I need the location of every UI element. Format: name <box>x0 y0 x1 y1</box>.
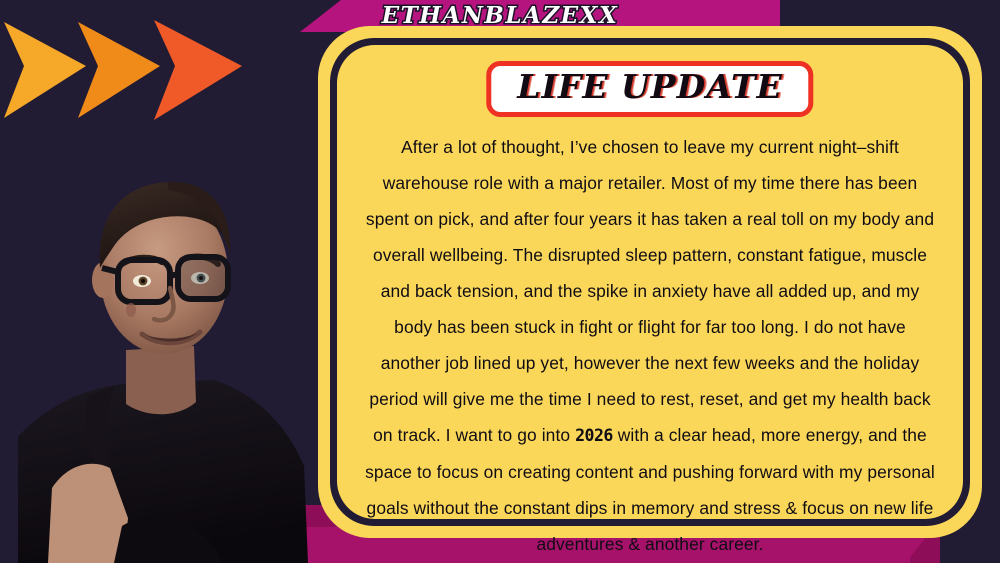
creator-photo <box>18 118 308 563</box>
card-title: LIFE UPDATE <box>517 70 782 105</box>
channel-handle: ETHANBLAZEXX <box>0 2 1000 29</box>
card-title-pill: LIFE UPDATE <box>486 61 813 117</box>
card-body-text: After a lot of thought, I’ve chosen to l… <box>363 129 937 562</box>
creator-portrait-illustration <box>18 118 308 563</box>
chevron-arrow-2-icon <box>76 20 162 120</box>
year-highlight: 2026 <box>575 426 613 445</box>
body-text-part-1: After a lot of thought, I’ve chosen to l… <box>366 137 934 445</box>
chevron-arrow-3-icon <box>152 18 244 122</box>
life-update-card: LIFE UPDATE After a lot of thought, I’ve… <box>337 45 963 519</box>
thumbnail-canvas: ETHANBLAZEXX LIFE UPDATE After a lot of … <box>0 0 1000 563</box>
